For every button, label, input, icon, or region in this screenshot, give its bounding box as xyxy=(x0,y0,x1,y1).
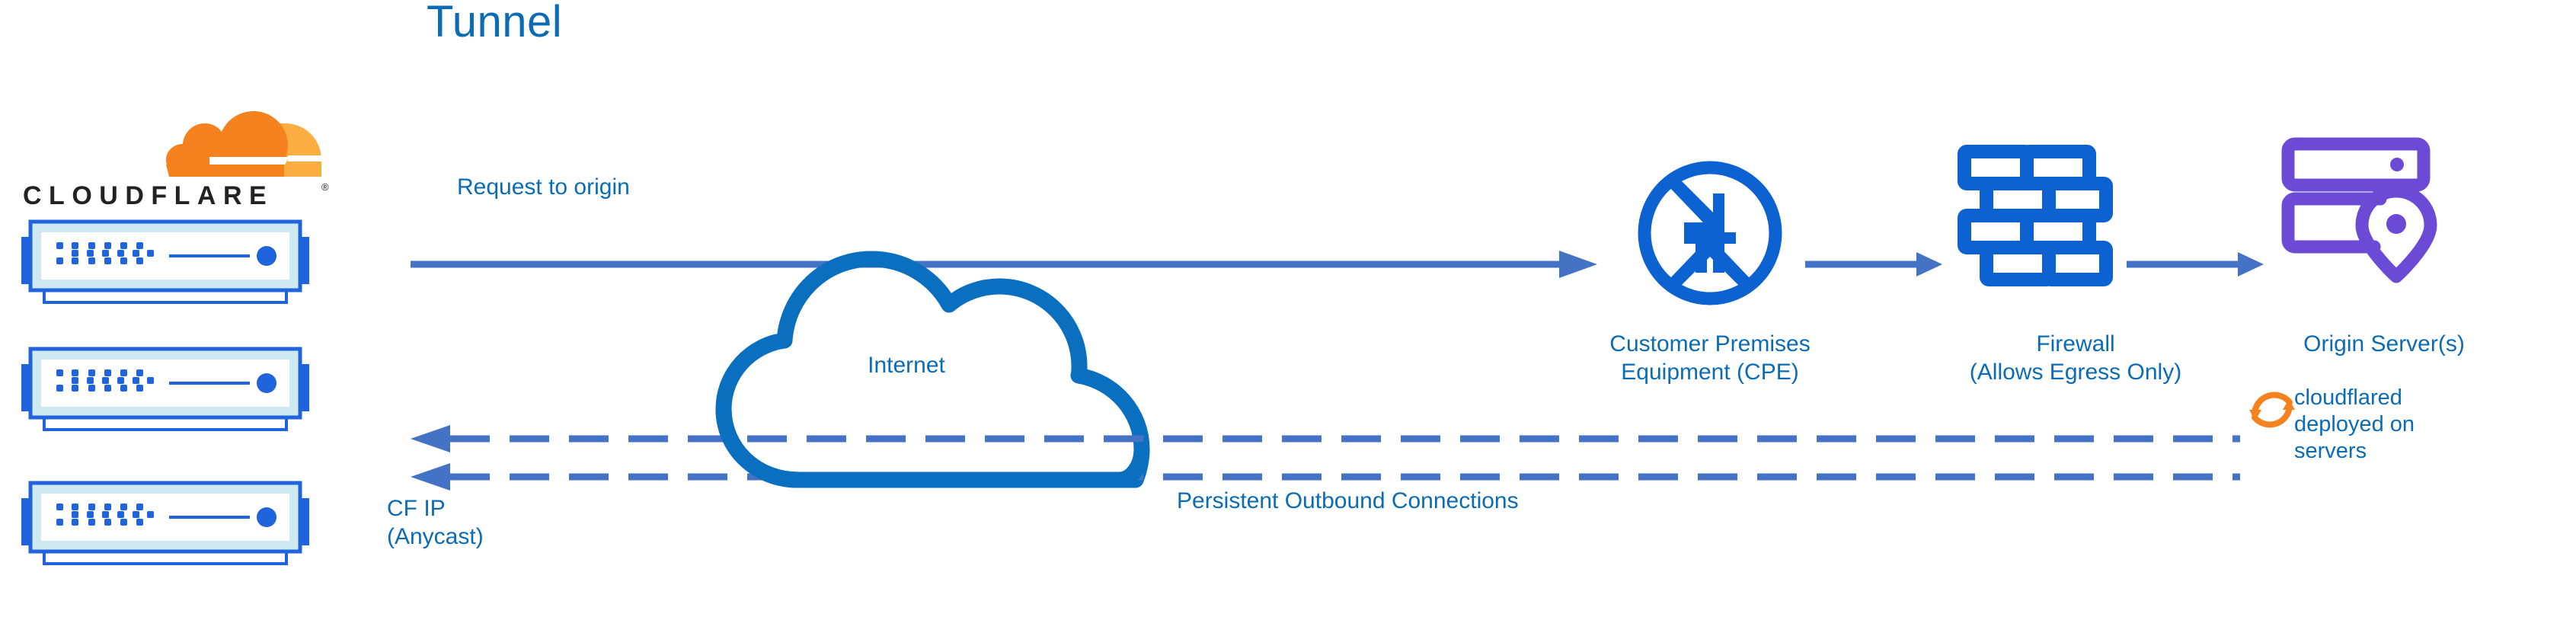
cloudflare-logo: CLOUDFLARE ® xyxy=(17,107,337,213)
server-rack-icon xyxy=(5,217,324,305)
router-icon xyxy=(1634,157,1786,313)
diagram-canvas: Tunnel CLOUDFLARE ® xyxy=(0,0,2576,617)
brick-wall-icon xyxy=(1958,145,2114,297)
page-title: Tunnel xyxy=(427,0,562,44)
cloudflared-annotation-text: cloudflared deployed on servers xyxy=(2294,385,2469,464)
cpe-label: Customer Premises Equipment (CPE) xyxy=(1531,331,1889,386)
firewall-label: Firewall (Allows Egress Only) xyxy=(1912,331,2239,386)
cpe-to-firewall-arrow xyxy=(1804,249,1945,280)
server-pin-icon xyxy=(2281,137,2464,293)
server-rack-icon xyxy=(5,478,324,566)
internet-label: Internet xyxy=(807,352,1005,380)
origin-server-label: Origin Server(s) xyxy=(2255,331,2514,359)
server-rack-icon xyxy=(5,344,324,432)
cloudflare-cloud-mark xyxy=(17,107,337,183)
persistent-outbound-dashed-line-upper xyxy=(407,424,2243,454)
persistent-outbound-connections-label: Persistent Outbound Connections xyxy=(1177,488,1519,516)
cloudflare-wordmark: CLOUDFLARE xyxy=(23,181,273,211)
registered-trademark-icon: ® xyxy=(321,181,329,193)
sync-refresh-icon xyxy=(2243,381,2301,443)
firewall-to-origin-arrow xyxy=(2125,249,2267,280)
request-to-origin-label: Request to origin xyxy=(457,174,630,202)
cf-ip-anycast-label: CF IP (Anycast) xyxy=(387,495,484,551)
